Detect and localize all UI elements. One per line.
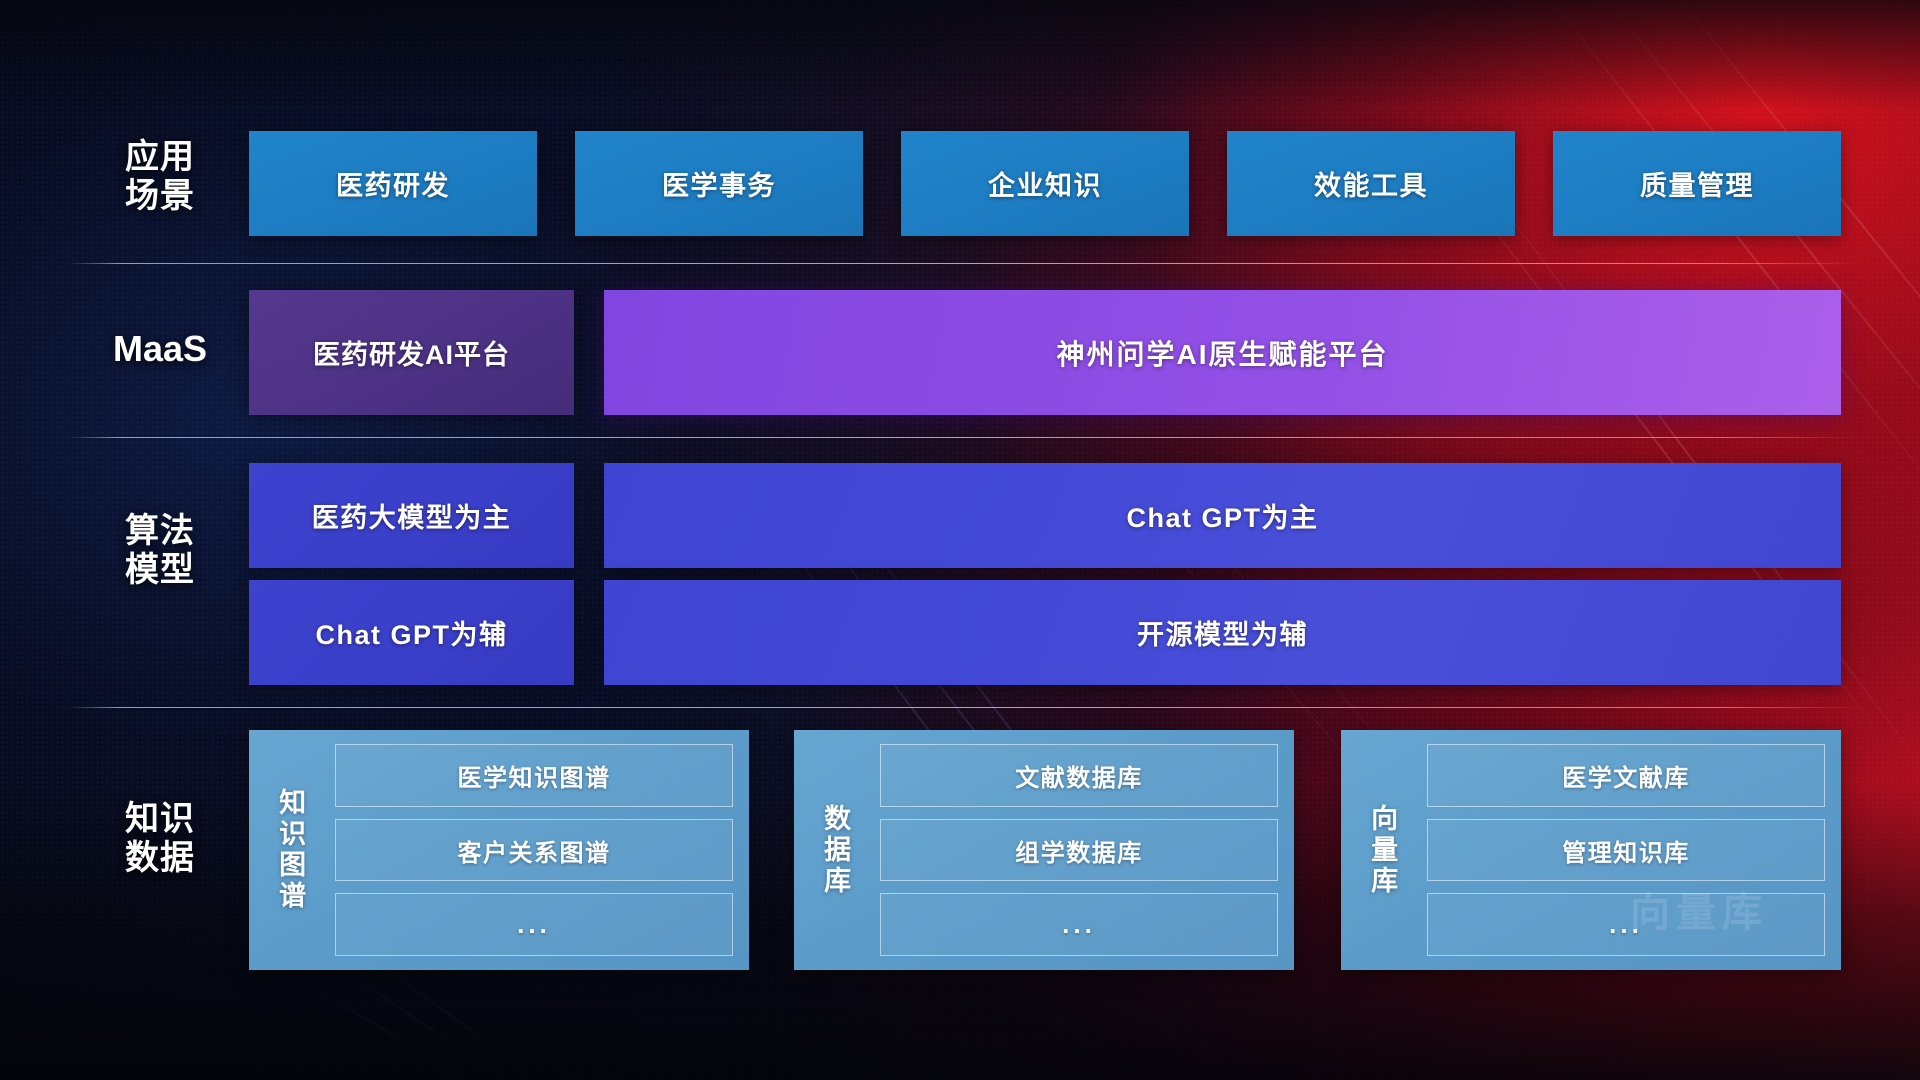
separator-application-maas bbox=[68, 263, 1858, 264]
application-box-4[interactable]: 效能工具 bbox=[1227, 131, 1515, 236]
knowledge-item-customer-relation-graph[interactable]: 客户关系图谱 bbox=[335, 819, 733, 882]
algorithm-box-opensource-secondary[interactable]: 开源模型为辅 bbox=[604, 580, 1841, 685]
row-label-knowledge-line1: 知识 bbox=[70, 800, 250, 839]
algorithm-box-chatgpt-primary-label: Chat GPT为主 bbox=[1126, 496, 1318, 535]
application-box-5-label: 质量管理 bbox=[1640, 164, 1754, 203]
knowledge-panel-knowledge-graph-title-text: 知识图谱 bbox=[275, 788, 305, 912]
application-box-2[interactable]: 医学事务 bbox=[575, 131, 863, 236]
knowledge-item-medical-knowledge-graph[interactable]: 医学知识图谱 bbox=[335, 744, 733, 807]
application-box-3[interactable]: 企业知识 bbox=[901, 131, 1189, 236]
row-label-knowledge-line2: 数据 bbox=[70, 839, 250, 878]
row-label-algorithm-line2: 模型 bbox=[70, 551, 250, 590]
maas-box-drug-ai-platform-label: 医药研发AI平台 bbox=[313, 333, 510, 372]
knowledge-panel-database-title-text: 数据库 bbox=[820, 804, 850, 897]
application-box-1-label: 医药研发 bbox=[336, 164, 450, 203]
knowledge-panel-vector-store[interactable]: 向量库 医学文献库 管理知识库 ... bbox=[1341, 730, 1841, 970]
knowledge-panel-database[interactable]: 数据库 文献数据库 组学数据库 ... bbox=[794, 730, 1294, 970]
knowledge-panel-database-title: 数据库 bbox=[804, 744, 866, 956]
row-label-maas: MaaS bbox=[70, 328, 250, 369]
diagram-canvas: 应用 场景 MaaS 算法 模型 知识 数据 医药研发 医学事务 企业知识 效能… bbox=[0, 0, 1920, 1080]
knowledge-item-management-knowledge-store-label: 管理知识库 bbox=[1562, 833, 1690, 868]
knowledge-item-medical-literature-store-label: 医学文献库 bbox=[1562, 758, 1690, 793]
knowledge-item-database-more[interactable]: ... bbox=[880, 893, 1278, 956]
algorithm-box-drug-model-primary[interactable]: 医药大模型为主 bbox=[249, 463, 574, 568]
separator-algorithm-knowledge bbox=[68, 707, 1858, 708]
row-label-application-line1: 应用 bbox=[70, 138, 250, 177]
algorithm-box-drug-model-primary-label: 医药大模型为主 bbox=[312, 496, 512, 535]
algorithm-box-opensource-secondary-label: 开源模型为辅 bbox=[1137, 613, 1308, 652]
knowledge-panel-database-items: 文献数据库 组学数据库 ... bbox=[866, 744, 1278, 956]
separator-maas-algorithm bbox=[68, 437, 1858, 438]
application-box-5[interactable]: 质量管理 bbox=[1553, 131, 1841, 236]
knowledge-panel-vector-store-title: 向量库 bbox=[1351, 744, 1413, 956]
maas-box-shenzhou-platform[interactable]: 神州问学AI原生赋能平台 bbox=[604, 290, 1841, 415]
knowledge-item-database-more-label: ... bbox=[1062, 909, 1096, 940]
row-label-application: 应用 场景 bbox=[70, 138, 250, 216]
row-label-algorithm-line1: 算法 bbox=[70, 512, 250, 551]
knowledge-panel-vector-store-title-text: 向量库 bbox=[1367, 804, 1397, 897]
maas-box-drug-ai-platform[interactable]: 医药研发AI平台 bbox=[249, 290, 574, 415]
knowledge-item-literature-database-label: 文献数据库 bbox=[1015, 758, 1143, 793]
knowledge-panel-knowledge-graph-items: 医学知识图谱 客户关系图谱 ... bbox=[321, 744, 733, 956]
knowledge-item-customer-relation-graph-label: 客户关系图谱 bbox=[458, 833, 611, 868]
row-label-application-line2: 场景 bbox=[70, 177, 250, 216]
knowledge-item-knowledge-graph-more[interactable]: ... bbox=[335, 893, 733, 956]
row-label-algorithm: 算法 模型 bbox=[70, 512, 250, 590]
row-label-knowledge: 知识 数据 bbox=[70, 800, 250, 878]
application-box-2-label: 医学事务 bbox=[662, 164, 776, 203]
knowledge-item-knowledge-graph-more-label: ... bbox=[517, 909, 551, 940]
application-box-3-label: 企业知识 bbox=[988, 164, 1102, 203]
knowledge-item-vector-store-more[interactable]: ... bbox=[1427, 893, 1825, 956]
knowledge-item-management-knowledge-store[interactable]: 管理知识库 bbox=[1427, 819, 1825, 882]
knowledge-panel-knowledge-graph-title: 知识图谱 bbox=[259, 744, 321, 956]
knowledge-item-vector-store-more-label: ... bbox=[1609, 909, 1643, 940]
maas-box-shenzhou-platform-label: 神州问学AI原生赋能平台 bbox=[1056, 333, 1388, 373]
algorithm-box-chatgpt-primary[interactable]: Chat GPT为主 bbox=[604, 463, 1841, 568]
knowledge-panel-vector-store-items: 医学文献库 管理知识库 ... bbox=[1413, 744, 1825, 956]
knowledge-panel-knowledge-graph[interactable]: 知识图谱 医学知识图谱 客户关系图谱 ... bbox=[249, 730, 749, 970]
knowledge-item-literature-database[interactable]: 文献数据库 bbox=[880, 744, 1278, 807]
knowledge-item-medical-literature-store[interactable]: 医学文献库 bbox=[1427, 744, 1825, 807]
knowledge-item-omics-database-label: 组学数据库 bbox=[1015, 833, 1143, 868]
application-box-4-label: 效能工具 bbox=[1314, 164, 1428, 203]
application-box-1[interactable]: 医药研发 bbox=[249, 131, 537, 236]
algorithm-box-chatgpt-secondary[interactable]: Chat GPT为辅 bbox=[249, 580, 574, 685]
top-vignette bbox=[0, 0, 1920, 110]
algorithm-box-chatgpt-secondary-label: Chat GPT为辅 bbox=[315, 613, 507, 652]
knowledge-item-omics-database[interactable]: 组学数据库 bbox=[880, 819, 1278, 882]
row-label-maas-text: MaaS bbox=[70, 328, 250, 369]
knowledge-item-medical-knowledge-graph-label: 医学知识图谱 bbox=[458, 758, 611, 793]
